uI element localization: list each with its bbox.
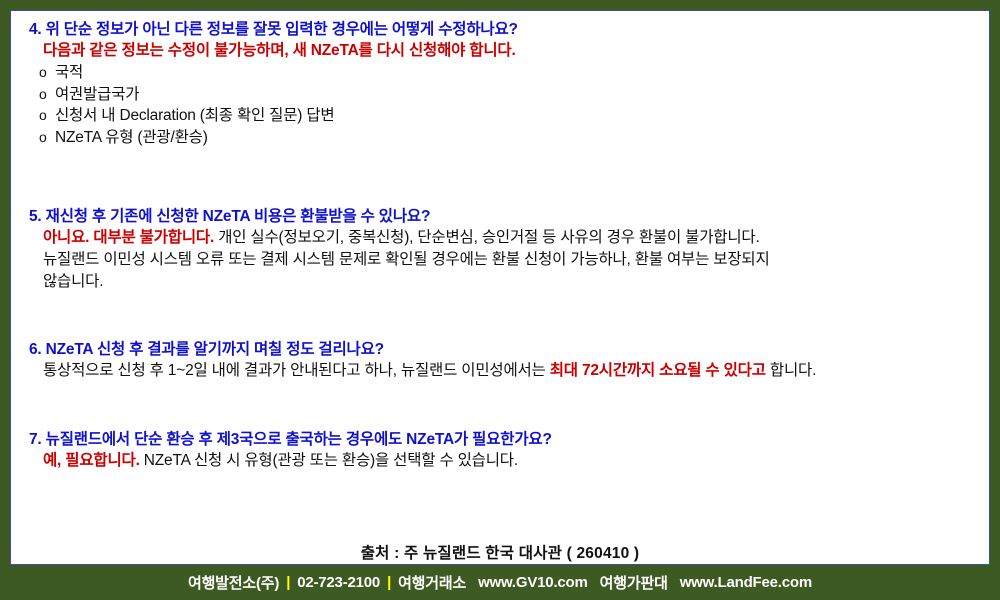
answer-7-highlight: 예, 필요합니다.: [43, 452, 140, 469]
source-attribution: 출처 : 주 뉴질랜드 한국 대사관 ( 260410 ): [11, 541, 989, 563]
list-item-label: 신청서 내 Declaration (최종 확인 질문) 답변: [55, 107, 334, 124]
list-item: o 국적: [29, 62, 975, 84]
answer-6-line-1: 통상적으로 신청 후 1~2일 내에 결과가 안내된다고 하나, 뉴질랜드 이민…: [29, 360, 975, 382]
answer-6-highlight: 최대 72시간까지 소요될 수 있다고: [550, 362, 766, 379]
bullet-marker-icon: o: [39, 84, 47, 106]
answer-5-rest: 개인 실수(정보오기, 중복신청), 단순변심, 승인거절 등 사유의 경우 환…: [214, 229, 759, 246]
list-item-label: 여권발급국가: [55, 86, 139, 103]
footer-brand-1: 여행거래소: [398, 572, 466, 593]
answer-7-line-1: 예, 필요합니다. NZeTA 신청 시 유형(관광 또는 환승)을 선택할 수…: [29, 450, 975, 472]
content-card-inner: 4. 위 단순 정보가 아닌 다른 정보를 잘못 입력한 경우에는 어떻게 수정…: [11, 11, 989, 564]
footer-bar: 여행발전소(주) | 02-723-2100 | 여행거래소 www.GV10.…: [0, 565, 1000, 600]
bullet-marker-icon: o: [39, 62, 47, 84]
answer-4-bullet-list: o 국적 o 여권발급국가 o 신청서 내 Declaration (최종 확인…: [29, 62, 975, 148]
bullet-marker-icon: o: [39, 105, 47, 127]
faq-item-5: 5. 재신청 후 기존에 신청한 NZeTA 비용은 환불받을 수 있나요? 아…: [11, 206, 989, 293]
answer-7-rest: NZeTA 신청 시 유형(관광 또는 환승)을 선택할 수 있습니다.: [140, 452, 518, 469]
slide-root: 4. 위 단순 정보가 아닌 다른 정보를 잘못 입력한 경우에는 어떻게 수정…: [0, 0, 1000, 600]
footer-brand-2: 여행가판대: [600, 572, 668, 593]
answer-6-prefix: 통상적으로 신청 후 1~2일 내에 결과가 안내된다고 하나, 뉴질랜드 이민…: [43, 362, 550, 379]
list-item: o NZeTA 유형 (관광/환승): [29, 127, 975, 149]
faq-item-7: 7. 뉴질랜드에서 단순 환승 후 제3국으로 출국하는 경우에도 NZeTA가…: [11, 429, 989, 472]
answer-5-line-3: 않습니다.: [29, 271, 975, 293]
answer-4-highlight: 다음과 같은 정보는 수정이 불가능하며, 새 NZeTA를 다시 신청해야 합…: [29, 40, 975, 62]
faq-item-6: 6. NZeTA 신청 후 결과를 알기까지 며칠 정도 걸리나요? 통상적으로…: [11, 339, 989, 382]
content-card: 4. 위 단순 정보가 아닌 다른 정보를 잘못 입력한 경우에는 어떻게 수정…: [10, 10, 990, 565]
faq-item-4: 4. 위 단순 정보가 아닌 다른 정보를 잘못 입력한 경우에는 어떻게 수정…: [11, 19, 989, 148]
list-item: o 여권발급국가: [29, 84, 975, 106]
bullet-marker-icon: o: [39, 127, 47, 149]
list-item-label: 국적: [55, 64, 83, 81]
list-item: o 신청서 내 Declaration (최종 확인 질문) 답변: [29, 105, 975, 127]
footer-website-2[interactable]: www.LandFee.com: [680, 574, 812, 591]
footer-separator-2: |: [380, 574, 398, 591]
question-6-text: 6. NZeTA 신청 후 결과를 알기까지 며칠 정도 걸리나요?: [29, 339, 975, 360]
question-4-text: 4. 위 단순 정보가 아닌 다른 정보를 잘못 입력한 경우에는 어떻게 수정…: [29, 19, 975, 40]
question-7-text: 7. 뉴질랜드에서 단순 환승 후 제3국으로 출국하는 경우에도 NZeTA가…: [29, 429, 975, 450]
footer-website-1[interactable]: www.GV10.com: [478, 574, 588, 591]
answer-5-line-2: 뉴질랜드 이민성 시스템 오류 또는 결제 시스템 문제로 확인될 경우에는 환…: [29, 249, 975, 271]
footer-content: 여행발전소(주) | 02-723-2100 | 여행거래소 www.GV10.…: [188, 572, 812, 593]
footer-phone-number: 02-723-2100: [297, 574, 380, 591]
footer-separator-1: |: [279, 574, 297, 591]
footer-company-name: 여행발전소(주): [188, 572, 279, 593]
answer-5-highlight: 아니요. 대부분 불가합니다.: [43, 229, 214, 246]
question-5-text: 5. 재신청 후 기존에 신청한 NZeTA 비용은 환불받을 수 있나요?: [29, 206, 975, 227]
list-item-label: NZeTA 유형 (관광/환승): [55, 129, 208, 146]
answer-5-line-1: 아니요. 대부분 불가합니다. 개인 실수(정보오기, 중복신청), 단순변심,…: [29, 227, 975, 249]
answer-6-suffix: 합니다.: [766, 362, 816, 379]
